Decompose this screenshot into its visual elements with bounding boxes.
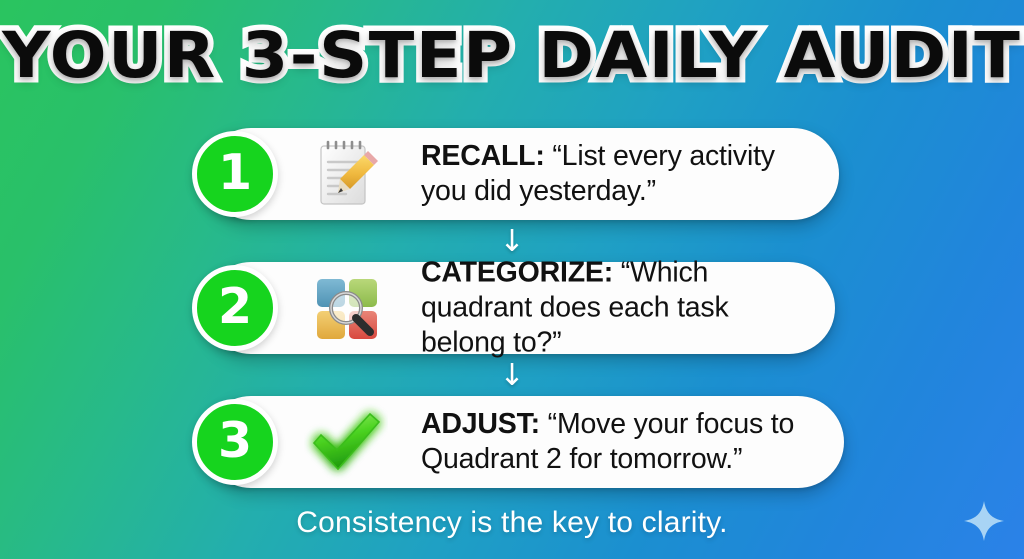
step-number-3: 3 bbox=[218, 416, 252, 465]
step-text-1: RECALL: “List every activity you did yes… bbox=[421, 139, 821, 209]
step-card-2[interactable]: 2 bbox=[205, 262, 835, 354]
step-number-2: 2 bbox=[218, 282, 252, 331]
step-lead-3: ADJUST: bbox=[421, 408, 540, 440]
title-container: YOUR 3-STEP DAILY AUDIT bbox=[0, 22, 1024, 90]
poster-canvas: YOUR 3-STEP DAILY AUDIT 1 bbox=[0, 0, 1024, 559]
quadrant-squares-magnifier-icon bbox=[303, 268, 389, 348]
step-lead-2: CATEGORIZE: bbox=[421, 257, 613, 289]
step-text-3: ADJUST: “Move your focus to Quadrant 2 f… bbox=[421, 407, 826, 477]
step-number-badge-2: 2 bbox=[192, 265, 278, 351]
sparkle-star-icon bbox=[963, 500, 1005, 542]
page-title: YOUR 3-STEP DAILY AUDIT bbox=[2, 22, 1021, 90]
arrow-down-2-icon: ↓ bbox=[0, 361, 1024, 391]
step-card-3[interactable]: 3 bbox=[205, 396, 844, 488]
memo-notepad-pencil-icon bbox=[303, 134, 389, 214]
arrow-down-1-icon: ↓ bbox=[0, 227, 1024, 257]
step-lead-1: RECALL: bbox=[421, 140, 545, 172]
step-number-badge-3: 3 bbox=[192, 399, 278, 485]
step-text-2: CATEGORIZE: “Which quadrant does each ta… bbox=[421, 256, 817, 361]
step-number-badge-1: 1 bbox=[192, 131, 278, 217]
step-card-1[interactable]: 1 bbox=[205, 128, 839, 220]
footer-tagline: Consistency is the key to clarity. bbox=[0, 505, 1024, 541]
green-check-mark-icon bbox=[303, 402, 389, 482]
step-number-1: 1 bbox=[218, 148, 252, 197]
